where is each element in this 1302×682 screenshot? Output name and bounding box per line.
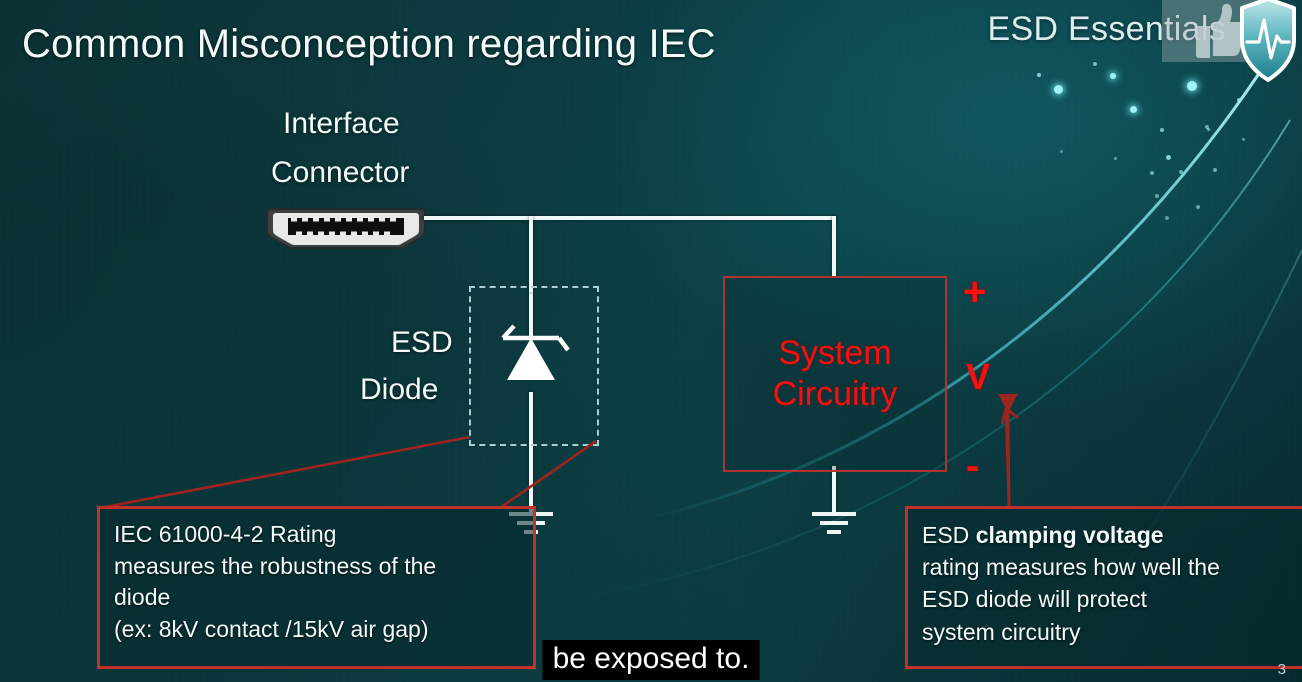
wire-top-horizontal — [424, 216, 836, 220]
ground-symbol-icon-system — [808, 508, 860, 538]
wire-system-ground — [832, 466, 836, 512]
connector-label: Connector — [271, 156, 409, 190]
tvs-diode-icon — [489, 312, 575, 396]
video-caption: be exposed to. — [543, 640, 760, 680]
callout-right-prefix: ESD — [922, 522, 976, 548]
callout-left-line-3: diode — [114, 582, 519, 614]
slide-title: Common Misconception regarding IEC — [22, 22, 716, 67]
diode-label: Diode — [360, 373, 438, 407]
callout-left-line-4: (ex: 8kV contact /15kV air gap) — [114, 614, 519, 646]
system-circuitry-block: System Circuitry — [723, 276, 947, 472]
wire-system-feed — [832, 216, 836, 278]
polarity-plus: + — [963, 270, 986, 315]
callout-right-emphasis: clamping voltage — [976, 522, 1164, 548]
hdmi-connector-icon — [266, 205, 426, 251]
esd-label: ESD — [391, 326, 453, 360]
callout-right-line-3: ESD diode will protect — [922, 583, 1292, 615]
polarity-voltage: V — [966, 356, 990, 398]
wire-diode-branch — [529, 216, 533, 294]
slide-canvas: Common Misconception regarding IEC ESD E… — [0, 0, 1302, 682]
shield-heartbeat-icon — [1238, 0, 1298, 84]
callout-right-line-2: rating measures how well the — [922, 551, 1292, 583]
interface-label: Interface — [283, 107, 400, 141]
polarity-minus: - — [966, 444, 979, 489]
callout-left: IEC 61000-4-2 Rating measures the robust… — [97, 506, 536, 669]
system-circuitry-line2: Circuitry — [773, 374, 898, 415]
callout-right: ESD clamping voltage rating measures how… — [905, 506, 1302, 669]
callout-left-line-2: measures the robustness of the — [114, 551, 519, 583]
callout-right-line-1: ESD clamping voltage — [922, 519, 1292, 551]
system-circuitry-line1: System — [778, 333, 891, 374]
page-number: 3 — [1278, 661, 1286, 678]
callout-left-line-1: IEC 61000-4-2 Rating — [114, 519, 519, 551]
callout-right-line-4: system circuitry — [922, 616, 1292, 648]
